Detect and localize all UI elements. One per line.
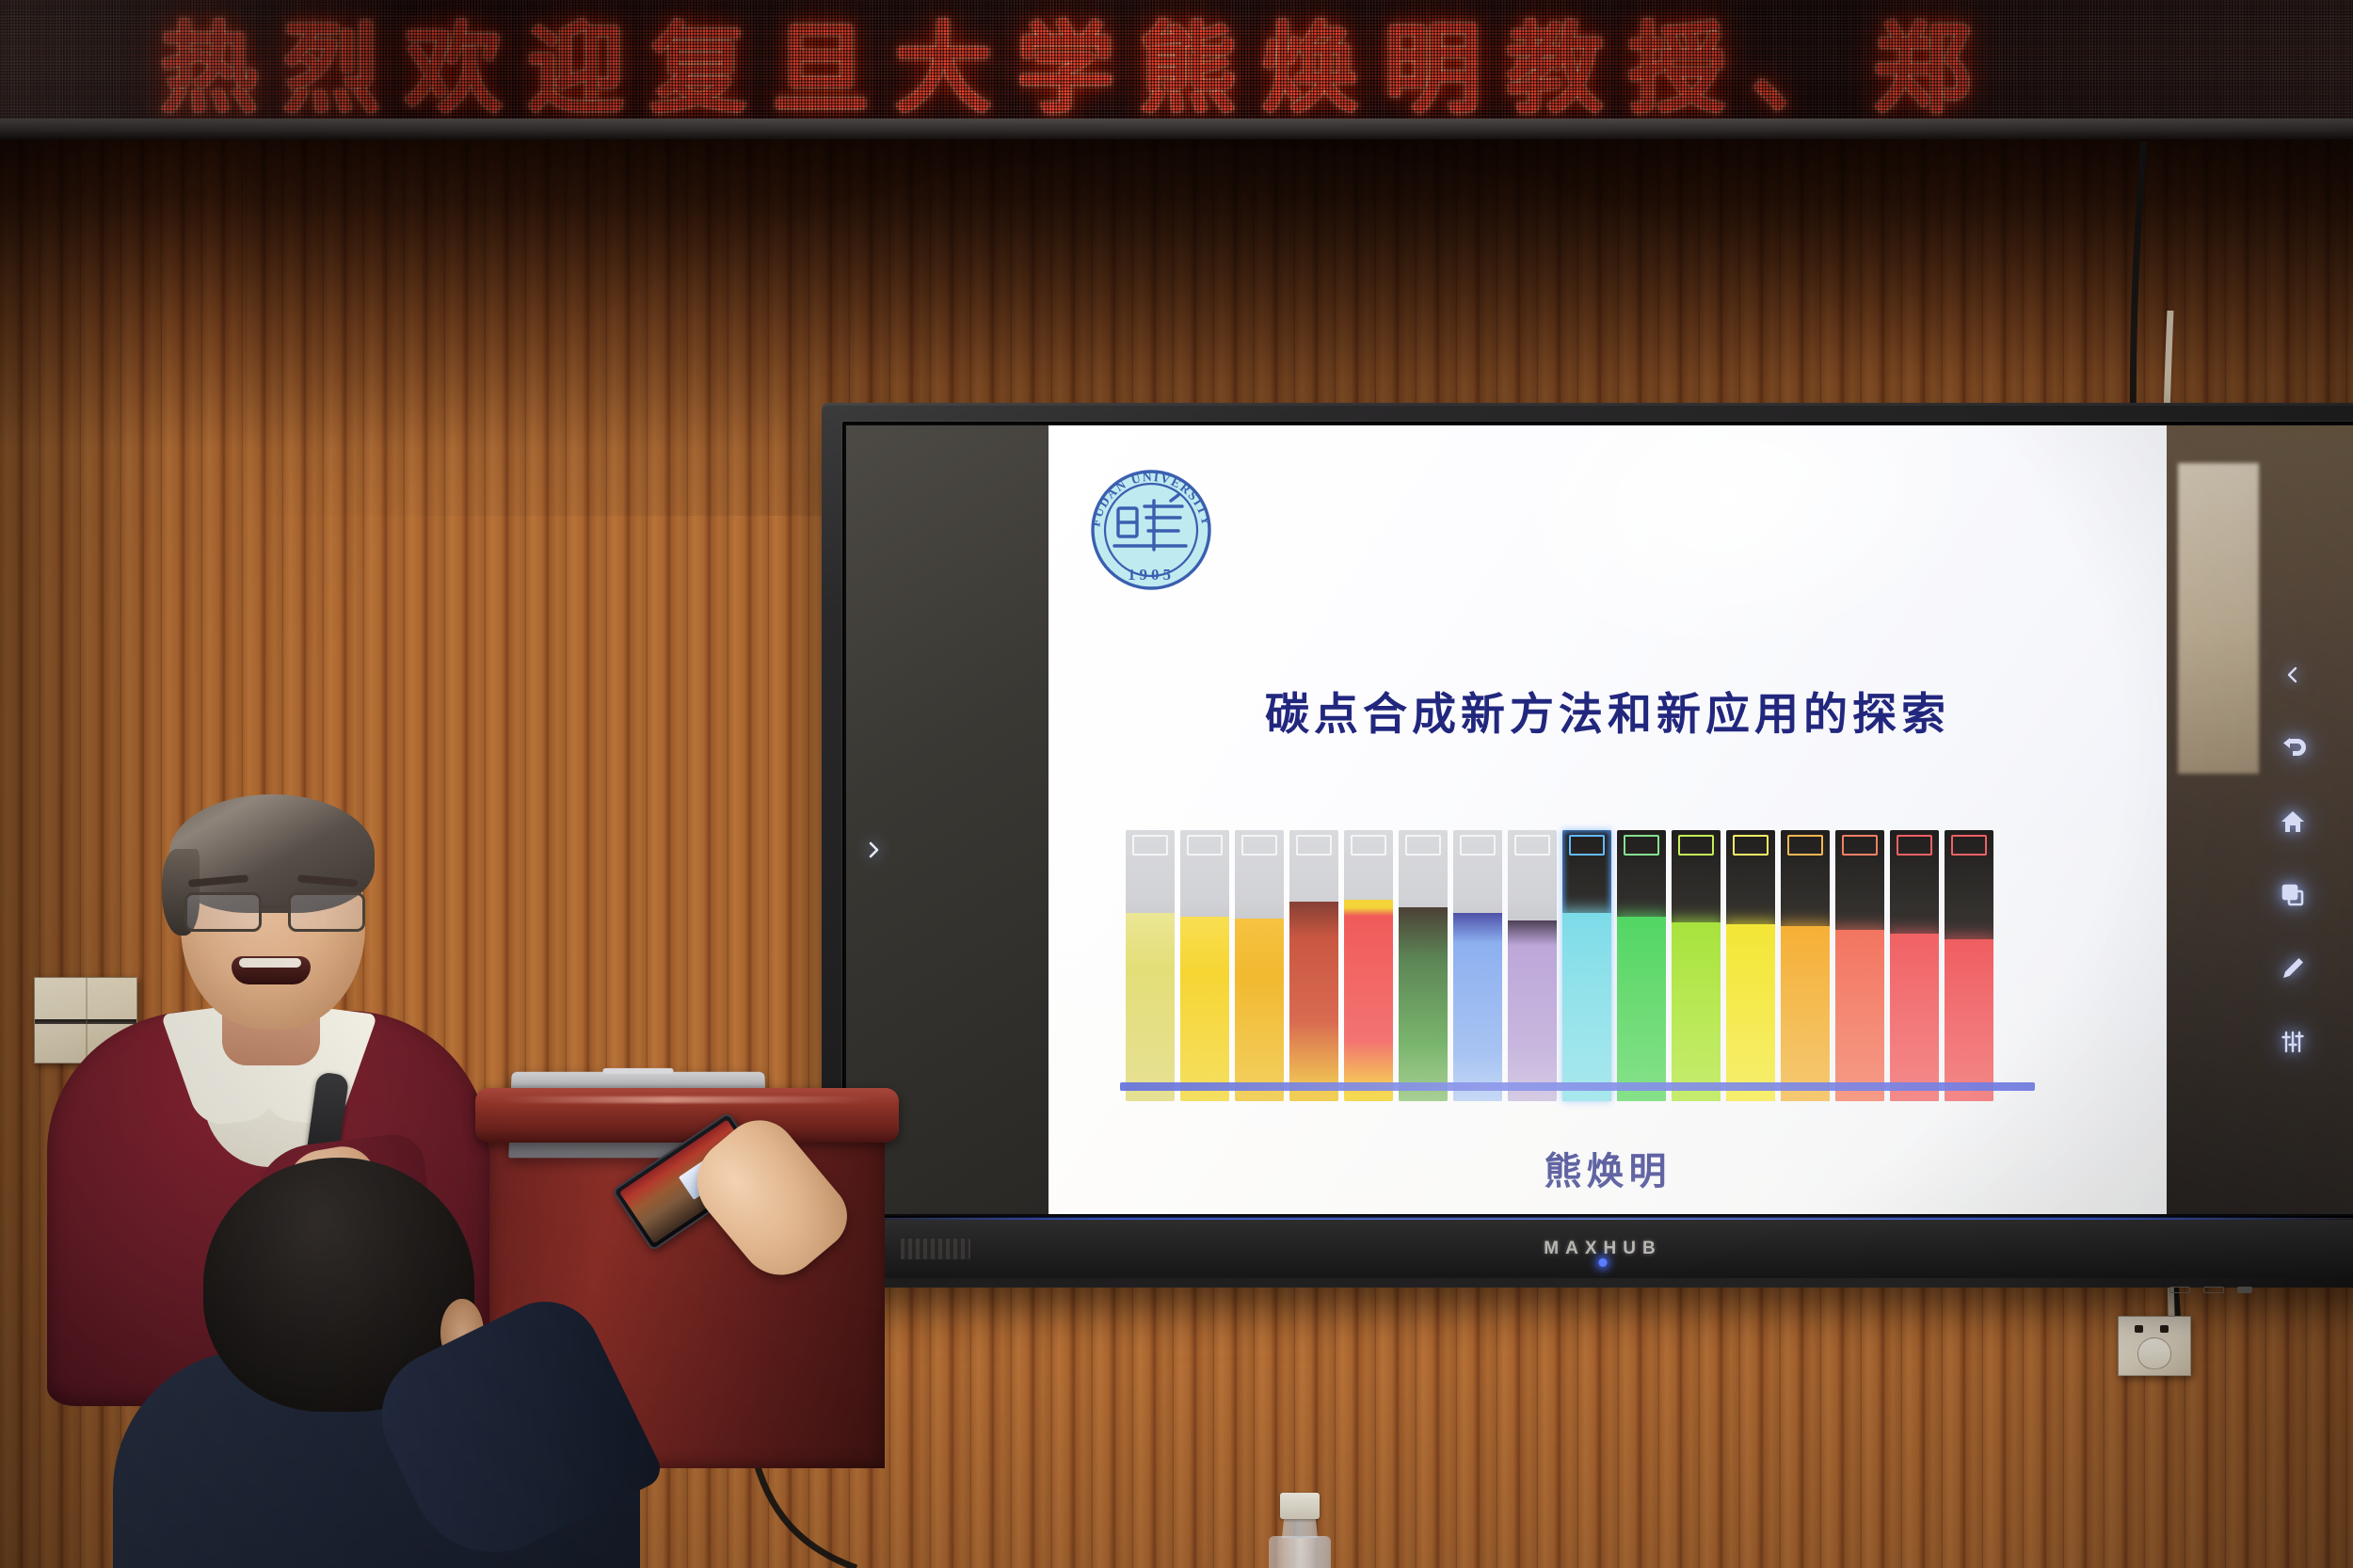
cuvette-cap: [1351, 835, 1385, 856]
cuvette-daylight: [1126, 830, 1175, 1101]
cuvette-liquid: [1344, 900, 1393, 1101]
led-banner: 热烈欢迎复旦大学熊焕明教授、郑: [0, 0, 2353, 124]
cuvette-uv: [1945, 830, 1993, 1101]
cuvette-liquid: [1945, 939, 1993, 1101]
cuvette-cap: [1951, 835, 1986, 856]
display-brand-logo: MAXHUB: [1544, 1239, 1661, 1259]
bottle-cap: [1280, 1493, 1320, 1519]
cuvette-liquid: [1617, 917, 1666, 1101]
slide-title: 碳点合成新方法和新应用的探索: [1048, 678, 2167, 743]
figure-accent-bar: [1120, 1082, 2035, 1091]
cuvette-cap: [1624, 835, 1658, 856]
letterbox-right: [2167, 425, 2353, 1214]
cuvette-daylight: [1508, 830, 1557, 1101]
cuvette-cap: [1733, 835, 1768, 856]
cuvette-uv: [1726, 830, 1775, 1101]
cuvette-liquid: [1781, 926, 1830, 1101]
pen-annotate-icon[interactable]: [2277, 952, 2309, 984]
display-screen[interactable]: FUDAN UNIVERSITY: [846, 425, 2353, 1214]
usb-port-icon[interactable]: [2169, 1287, 2190, 1293]
cuvette-daylight: [1399, 830, 1448, 1101]
eyeglass-bridge: [262, 905, 288, 908]
display-ports[interactable]: [2169, 1287, 2252, 1293]
ir-sensor-strip: [901, 1239, 970, 1259]
led-banner-frame: [0, 119, 2353, 139]
maxhub-interactive-display[interactable]: FUDAN UNIVERSITY: [822, 403, 2353, 1288]
multitask-windows-icon[interactable]: [2277, 879, 2309, 911]
cuvette-cap: [1405, 835, 1440, 856]
hdmi-port-icon[interactable]: [2203, 1287, 2224, 1293]
home-icon[interactable]: [2277, 806, 2309, 838]
slide-affiliation: 复旦大学化学系: [1048, 1205, 2167, 1214]
cuvette-cap: [1296, 835, 1331, 856]
cuvette-cap: [1569, 835, 1604, 856]
power-indicator-led: [1599, 1258, 1608, 1267]
cuvette-cap: [1514, 835, 1549, 856]
expand-chevron-icon[interactable]: [859, 836, 888, 864]
audience-member-photographing: [113, 1158, 640, 1568]
cuvette-liquid: [1672, 922, 1721, 1101]
outlet-slot-left: [2135, 1325, 2143, 1333]
cuvette-liquid: [1180, 917, 1229, 1101]
cuvette-liquid: [1726, 924, 1775, 1101]
cuvette-uv: [1835, 830, 1884, 1101]
cuvette-daylight: [1235, 830, 1284, 1101]
water-bottle[interactable]: [1261, 1493, 1337, 1568]
slide-author: 熊焕明: [1048, 1141, 2167, 1195]
cuvette-liquid: [1453, 913, 1502, 1101]
cuvette-liquid: [1289, 902, 1338, 1101]
cuvette-liquid: [1399, 907, 1448, 1101]
cuvette-daylight: [1289, 830, 1338, 1101]
eyeglass-lens-left: [184, 892, 262, 932]
presentation-slide: FUDAN UNIVERSITY: [1048, 425, 2167, 1214]
cuvette-daylight: [1344, 830, 1393, 1101]
cuvette-cap: [1187, 835, 1222, 856]
lecture-hall-scene: 热烈欢迎复旦大学熊焕明教授、郑: [0, 0, 2353, 1568]
eyeglass-lens-right: [288, 892, 365, 932]
cuvette-array-photo: [1126, 819, 2029, 1101]
cuvette-liquid: [1890, 934, 1939, 1101]
cuvette-uv: [1781, 830, 1830, 1101]
bottle-neck: [1282, 1517, 1318, 1538]
cuvette-cap: [1787, 835, 1822, 856]
outlet-plug: [2137, 1337, 2171, 1369]
outlet-slot-right: [2160, 1325, 2169, 1333]
cuvette-daylight: [1180, 830, 1229, 1101]
wall-power-outlet[interactable]: [2118, 1316, 2191, 1376]
cuvette-liquid: [1562, 913, 1611, 1101]
led-banner-text: 热烈欢迎复旦大学熊焕明教授、郑: [160, 0, 1995, 124]
cuvette-cap: [1132, 835, 1167, 856]
display-side-toolbar[interactable]: [2267, 659, 2318, 1058]
presenter-eyeglasses: [181, 892, 369, 934]
cuvette-liquid: [1235, 919, 1284, 1101]
display-chin: MAXHUB: [842, 1220, 2353, 1278]
cuvette-daylight: [1453, 830, 1502, 1101]
cuvette-cap: [1460, 835, 1495, 856]
back-arrow-icon[interactable]: [2277, 732, 2309, 764]
cuvette-uv: [1617, 830, 1666, 1101]
sd-slot-icon[interactable]: [2237, 1287, 2252, 1293]
cuvette-uv: [1562, 830, 1611, 1101]
cuvette-cap: [1241, 835, 1276, 856]
bottle-body: [1269, 1536, 1331, 1568]
cuvette-uv: [1672, 830, 1721, 1101]
lectern-top-edge: [475, 1088, 899, 1143]
collapse-chevron-icon[interactable]: [2277, 659, 2309, 691]
cuvette-cap: [1897, 835, 1931, 856]
svg-text:1905: 1905: [1128, 566, 1175, 584]
settings-sliders-icon[interactable]: [2277, 1026, 2309, 1058]
cuvette-cap: [1842, 835, 1877, 856]
cuvette-liquid: [1508, 920, 1557, 1101]
cuvette-cap: [1678, 835, 1713, 856]
cuvette-uv: [1890, 830, 1939, 1101]
fudan-university-seal: FUDAN UNIVERSITY: [1080, 459, 1222, 600]
cuvette-liquid: [1126, 913, 1175, 1101]
presenter-mouth: [232, 956, 311, 984]
cuvette-liquid: [1835, 930, 1884, 1101]
